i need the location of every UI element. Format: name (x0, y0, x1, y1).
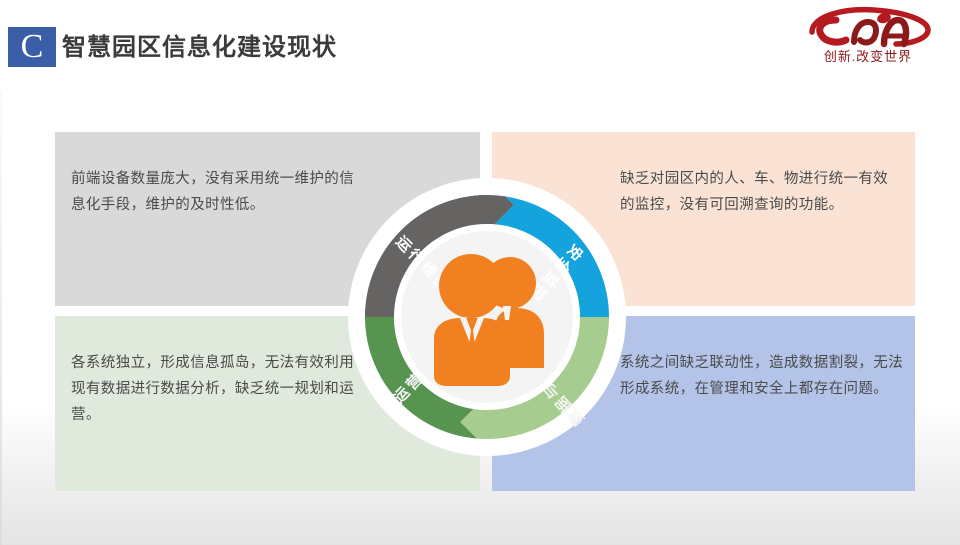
two-people-icon (434, 254, 544, 386)
slide-header: C 智慧园区信息化建设现状 创新.改变世界 (0, 0, 960, 92)
section-badge-letter: C (21, 30, 44, 64)
brand-logo: 创新.改变世界 (792, 6, 942, 68)
section-badge: C (8, 27, 56, 67)
panel-top-left-text: 前端设备数量庞大，没有采用统一维护的信息化手段，维护的及时性低。 (71, 166, 361, 218)
panel-bottom-left-text: 各系统独立，形成信息孤岛，无法有效利用现有数据进行数据分析，缺乏统一规划和运营。 (71, 350, 361, 428)
panel-bottom-right-text: 系统之间缺乏联动性，造成数据割裂，无法形成系统，在管理和安全上都存在问题。 (620, 350, 905, 402)
page-title: 智慧园区信息化建设现状 (62, 30, 337, 66)
panel-top-right-text: 缺乏对园区内的人、车、物进行统一有效的监控，没有可回溯查询的功能。 (620, 166, 900, 218)
slide-canvas: C 智慧园区信息化建设现状 创新.改变世界 前端设备数量庞大，没有采用统一维护的… (0, 0, 960, 545)
logo-tagline: 创新.改变世界 (798, 46, 938, 65)
cycle-diagram: 运行维护 安全监控 数据与安全性 运营管理 (348, 178, 626, 456)
